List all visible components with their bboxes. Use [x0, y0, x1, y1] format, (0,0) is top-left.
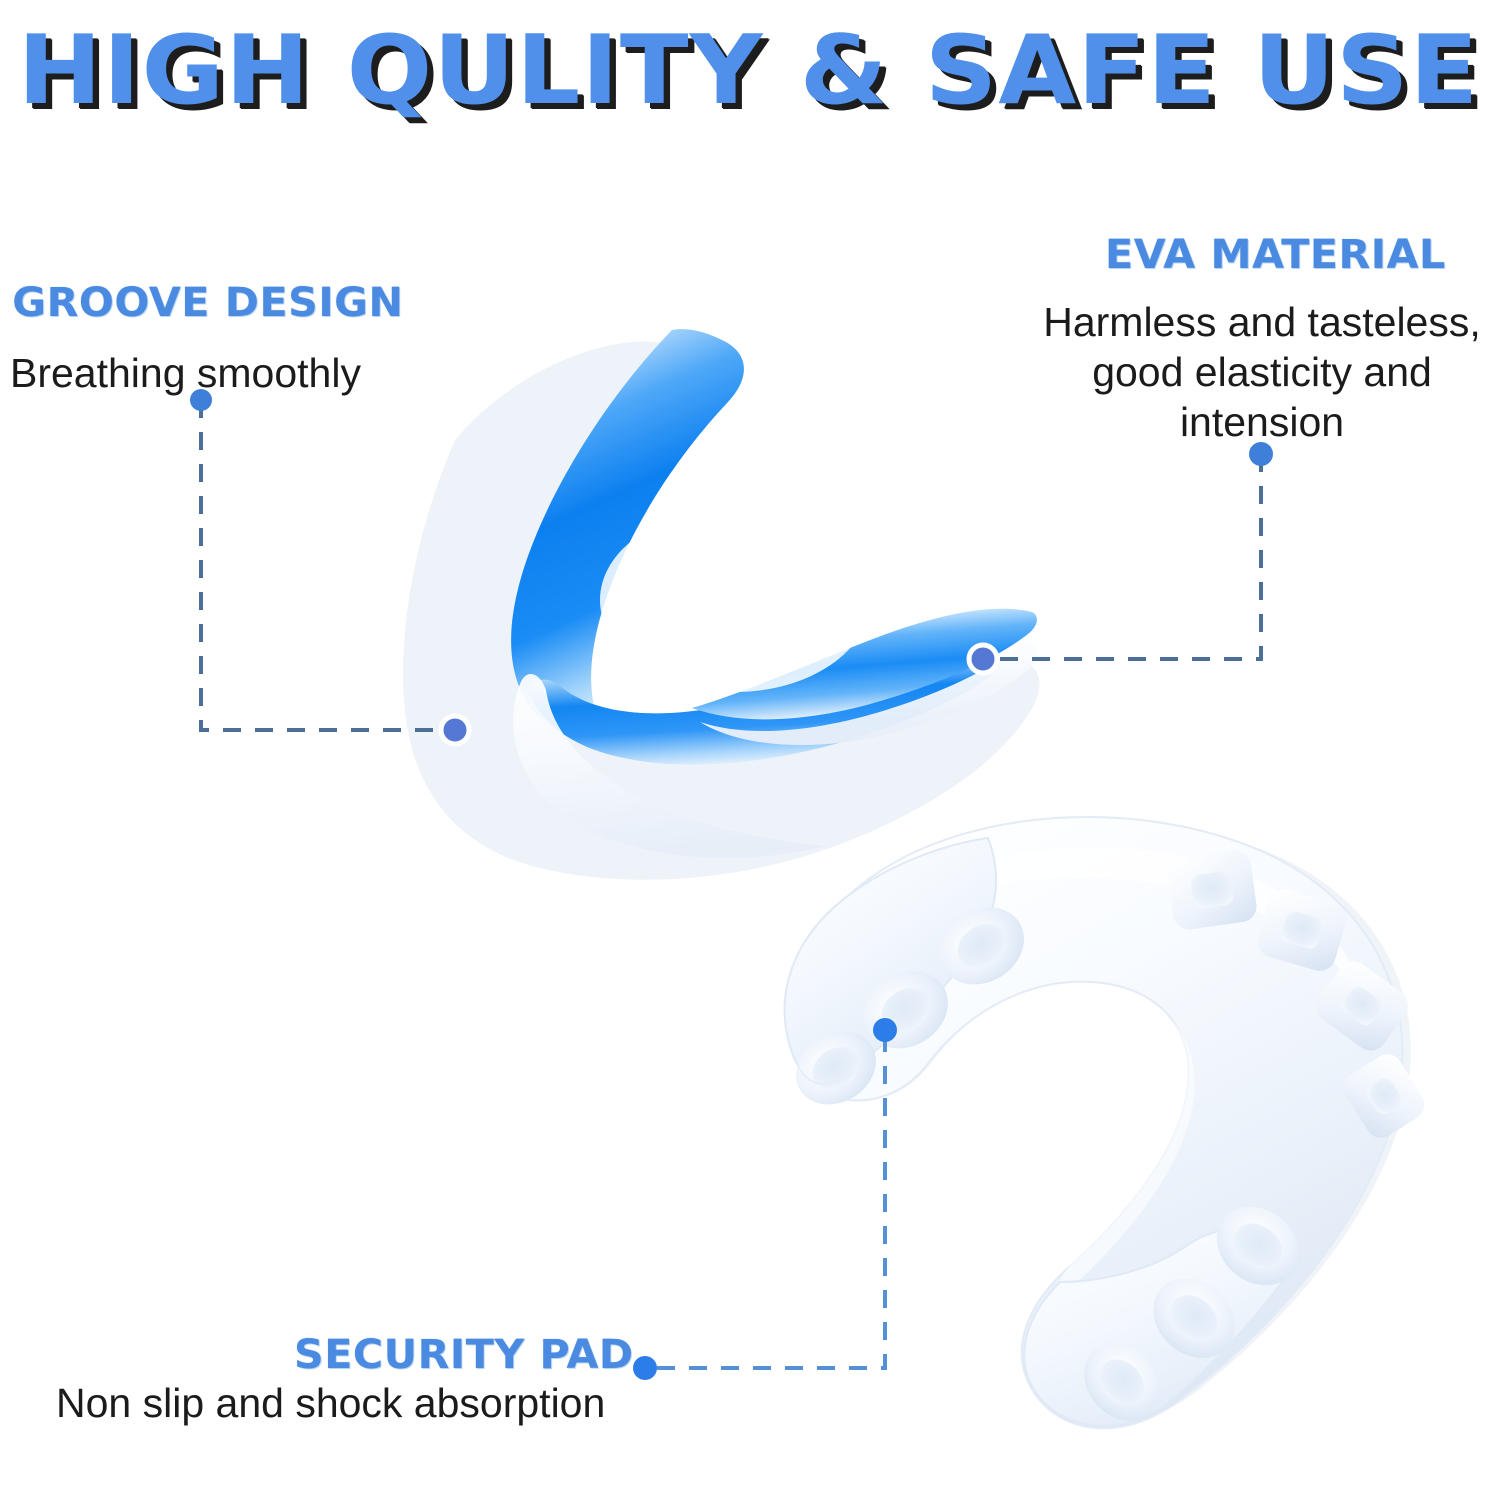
feature-heading-groove-design: GROOVE DESIGN	[12, 280, 403, 326]
feature-body-security-pad: Non slip and shock absorption	[56, 1378, 605, 1428]
feature-heading-security-pad: SECURITY PAD	[294, 1332, 634, 1378]
white-mouthguard-security-pads	[782, 817, 1430, 1436]
feature-body-groove-design: Breathing smoothly	[10, 348, 361, 398]
page-title: HIGH QULITY & SAFE USE	[0, 22, 1497, 122]
feature-heading-eva-material: EVA MATERIAL	[1105, 232, 1446, 278]
feature-body-eva-material: Harmless and tasteless, good elasticity …	[1022, 297, 1497, 447]
blue-gel-mouthguard	[403, 329, 1039, 880]
product-illustrations	[0, 0, 1497, 1497]
infographic-canvas: HIGH QULITY & SAFE USE GROOVE DESIGN Bre…	[0, 0, 1497, 1497]
